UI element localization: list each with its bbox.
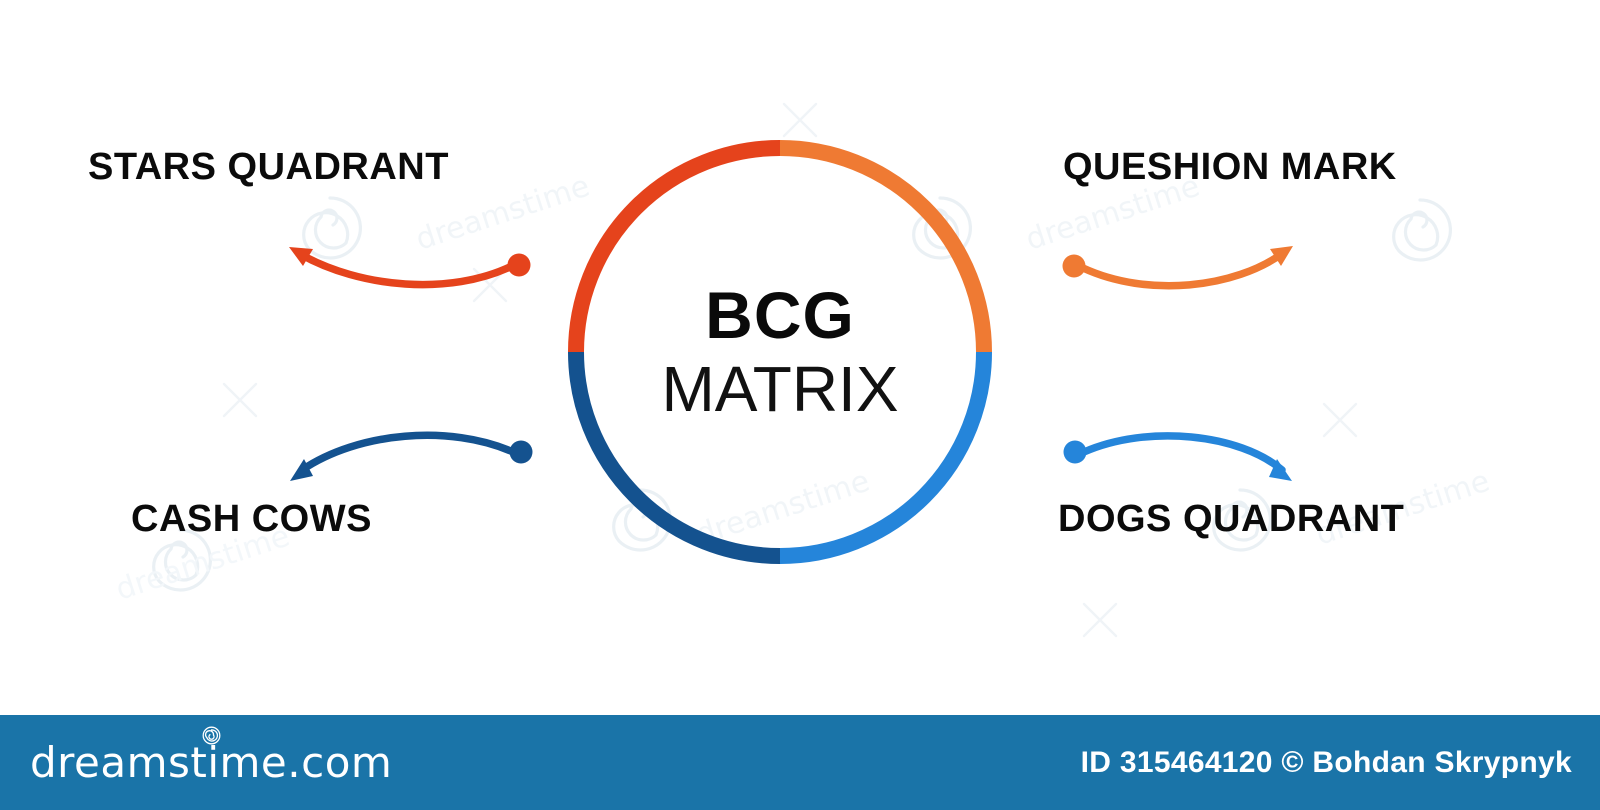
connector-arrow-stars[interactable] <box>289 247 531 285</box>
connector-arrow-question-mark[interactable] <box>1063 246 1294 286</box>
image-credit: ID 315464120 © Bohdan Skrypnyk <box>1081 746 1572 780</box>
quadrant-label-stars: STARS QUADRANT <box>88 146 449 189</box>
brand-name: dreamstime.com <box>30 738 392 787</box>
quadrant-label-cash-cows: CASH COWS <box>131 498 372 541</box>
quadrant-label-question-mark: QUESHION MARK <box>1063 146 1397 189</box>
spiral-icon <box>202 726 221 745</box>
connector-arrow-dogs[interactable] <box>1064 436 1293 481</box>
stock-watermark-footer: dreamstime.com ID 315464120 © Bohdan Skr… <box>0 715 1600 810</box>
dreamstime-logo[interactable]: dreamstime.com <box>30 738 392 787</box>
connector-arrows-layer <box>0 0 1600 715</box>
connector-arrow-cash-cows[interactable] <box>290 435 533 481</box>
diagram-canvas: dreamstime dreamstime dreamstime dreamst… <box>0 0 1600 810</box>
quadrant-label-dogs: DOGS QUADRANT <box>1058 498 1404 541</box>
